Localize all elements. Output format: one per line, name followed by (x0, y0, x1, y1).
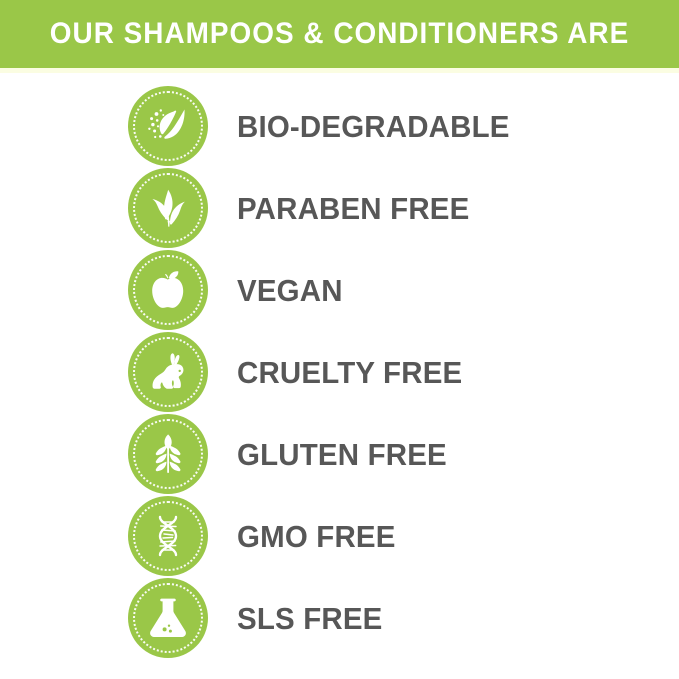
claim-label: BIO-DEGRADABLE (237, 111, 510, 142)
herb-leaves-icon (143, 183, 193, 233)
claim-label: SLS FREE (237, 603, 383, 634)
leaf-dissolving-icon (143, 101, 193, 151)
claim-badge (128, 414, 208, 494)
rabbit-icon (143, 347, 193, 397)
claim-badge (128, 86, 208, 166)
list-item: VEGAN (128, 250, 648, 330)
claims-poster: OUR SHAMPOOS & CONDITIONERS ARE (0, 0, 679, 679)
list-item: GMO FREE (128, 496, 648, 576)
dna-helix-icon (143, 511, 193, 561)
claim-badge (128, 168, 208, 248)
list-item: PARABEN FREE (128, 168, 648, 248)
claim-badge (128, 332, 208, 412)
apple-icon (143, 265, 193, 315)
claim-label: VEGAN (237, 275, 343, 306)
list-item: CRUELTY FREE (128, 332, 648, 412)
claims-list: BIO-DEGRADABLE PARABEN FREE (0, 86, 679, 672)
claim-badge (128, 250, 208, 330)
claim-label: GLUTEN FREE (237, 439, 447, 470)
list-item: BIO-DEGRADABLE (128, 86, 648, 166)
claim-label: CRUELTY FREE (237, 357, 462, 388)
list-item: GLUTEN FREE (128, 414, 648, 494)
page-title: OUR SHAMPOOS & CONDITIONERS ARE (50, 19, 629, 49)
claim-label: PARABEN FREE (237, 193, 469, 224)
wheat-stalk-icon (143, 429, 193, 479)
header-underline-divider (0, 68, 679, 73)
claim-label: GMO FREE (237, 521, 396, 552)
claim-badge (128, 578, 208, 658)
erlenmeyer-flask-icon (143, 593, 193, 643)
list-item: SLS FREE (128, 578, 648, 658)
header-band: OUR SHAMPOOS & CONDITIONERS ARE (0, 0, 679, 68)
claim-badge (128, 496, 208, 576)
